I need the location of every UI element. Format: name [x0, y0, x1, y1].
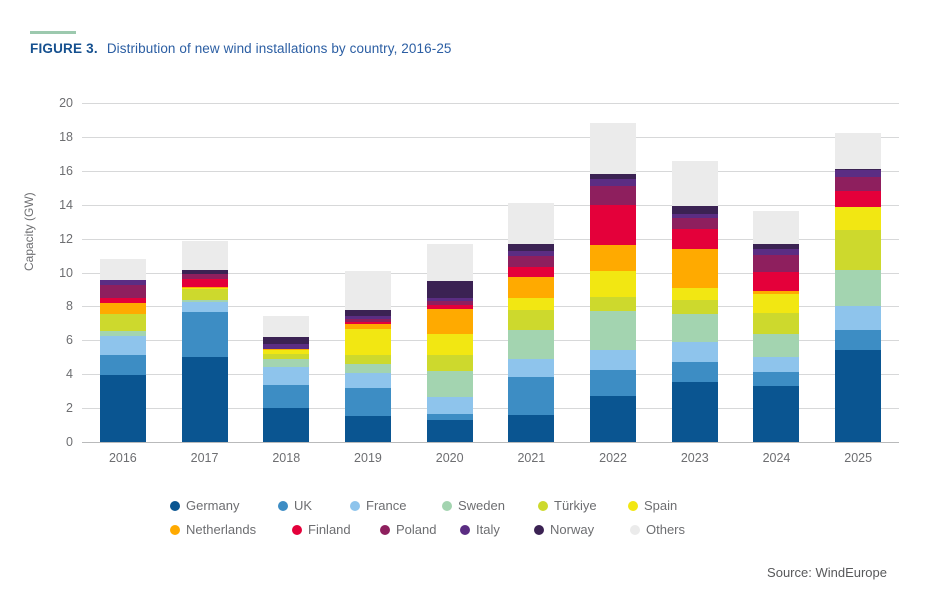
bar-segment-türkiye[interactable] [427, 355, 473, 371]
legend-item-spain[interactable]: Spain [628, 498, 677, 513]
x-axis-tick-label: 2017 [191, 451, 219, 465]
bar-segment-türkiye[interactable] [508, 310, 554, 330]
x-axis-tick-label: 2025 [844, 451, 872, 465]
bar-column[interactable]: 2020 [409, 103, 491, 442]
bar-segment-sweden[interactable] [835, 270, 881, 306]
stacked-bar[interactable] [508, 157, 554, 442]
bar-segment-finland[interactable] [508, 267, 554, 277]
legend-item-türkiye[interactable]: Türkiye [538, 498, 628, 513]
stacked-bar[interactable] [100, 193, 146, 442]
bar-segment-others[interactable] [345, 271, 391, 310]
legend-item-poland[interactable]: Poland [380, 522, 460, 537]
legend-item-others[interactable]: Others [630, 522, 685, 537]
bar-segment-france[interactable] [590, 350, 636, 370]
bar-segment-norway[interactable] [427, 281, 473, 298]
bar-segment-poland[interactable] [100, 285, 146, 297]
stacked-bar[interactable] [672, 134, 718, 442]
bar-segment-norway[interactable] [508, 244, 554, 251]
bar-segment-finland[interactable] [672, 229, 718, 249]
bar-column[interactable]: 2016 [82, 103, 164, 442]
bar-column[interactable]: 2021 [491, 103, 573, 442]
bar-column[interactable]: 2017 [164, 103, 246, 442]
bar-segment-germany[interactable] [100, 375, 146, 442]
legend-item-italy[interactable]: Italy [460, 522, 534, 537]
bar-segment-others[interactable] [427, 244, 473, 282]
legend-label: Sweden [458, 498, 505, 513]
y-axis-tick-label: 4 [66, 367, 73, 381]
stacked-bar[interactable] [753, 162, 799, 442]
stacked-bar[interactable] [345, 201, 391, 442]
legend-label: Italy [476, 522, 500, 537]
legend-row: NetherlandsFinlandPolandItalyNorwayOther… [170, 522, 770, 537]
bar-segment-netherlands[interactable] [672, 249, 718, 288]
bar-segment-france[interactable] [753, 357, 799, 372]
bar-segment-uk[interactable] [590, 370, 636, 396]
bar-segment-finland[interactable] [182, 279, 228, 287]
bar-segment-uk[interactable] [835, 330, 881, 349]
bar-segment-türkiye[interactable] [835, 230, 881, 270]
legend-item-finland[interactable]: Finland [292, 522, 380, 537]
legend-swatch-icon [278, 501, 288, 511]
legend-swatch-icon [380, 525, 390, 535]
legend-swatch-icon [350, 501, 360, 511]
bar-segment-sweden[interactable] [753, 334, 799, 356]
stacked-bar[interactable] [590, 113, 636, 442]
legend-swatch-icon [630, 525, 640, 535]
bar-segment-finland[interactable] [753, 272, 799, 292]
y-axis-tick-label: 14 [59, 198, 73, 212]
legend-item-netherlands[interactable]: Netherlands [170, 522, 292, 537]
bar-segment-sweden[interactable] [345, 364, 391, 374]
bar-segment-türkiye[interactable] [590, 297, 636, 310]
bar-segment-germany[interactable] [590, 396, 636, 442]
legend-item-norway[interactable]: Norway [534, 522, 630, 537]
legend-swatch-icon [170, 525, 180, 535]
stacked-bar[interactable] [835, 118, 881, 442]
x-axis-tick-label: 2016 [109, 451, 137, 465]
bar-segment-germany[interactable] [835, 350, 881, 442]
bar-segment-sweden[interactable] [427, 371, 473, 397]
bar-column[interactable]: 2025 [817, 103, 899, 442]
bar-segment-sweden[interactable] [672, 314, 718, 342]
legend-label: France [366, 498, 406, 513]
y-axis-tick-label: 18 [59, 130, 73, 144]
bar-segment-france[interactable] [427, 397, 473, 414]
bar-segment-germany[interactable] [182, 357, 228, 442]
bar-segment-others[interactable] [100, 259, 146, 280]
bar-segment-germany[interactable] [263, 408, 309, 442]
bar-segment-poland[interactable] [590, 186, 636, 206]
bar-segment-türkiye[interactable] [182, 289, 228, 299]
legend-item-france[interactable]: France [350, 498, 442, 513]
bar-segment-türkiye[interactable] [345, 355, 391, 363]
source-note: Source: WindEurope [767, 565, 887, 580]
legend-label: Türkiye [554, 498, 597, 513]
bar-segment-germany[interactable] [753, 386, 799, 442]
bar-column[interactable]: 2018 [245, 103, 327, 442]
x-axis-tick-label: 2024 [763, 451, 791, 465]
legend-item-sweden[interactable]: Sweden [442, 498, 538, 513]
stacked-bar[interactable] [427, 183, 473, 442]
stacked-bar[interactable] [182, 181, 228, 442]
bar-segment-others[interactable] [182, 241, 228, 270]
bar-segment-netherlands[interactable] [590, 245, 636, 271]
legend-label: UK [294, 498, 312, 513]
bar-segment-uk[interactable] [508, 377, 554, 415]
bar-series-container: 2016201720182019202020212022202320242025 [82, 103, 899, 442]
bar-segment-uk[interactable] [100, 355, 146, 375]
bar-segment-france[interactable] [263, 367, 309, 386]
legend-label: Poland [396, 522, 436, 537]
legend-swatch-icon [534, 525, 544, 535]
bar-segment-germany[interactable] [508, 415, 554, 442]
bar-segment-others[interactable] [753, 211, 799, 243]
legend-swatch-icon [442, 501, 452, 511]
bar-segment-others[interactable] [835, 133, 881, 169]
chart-legend: GermanyUKFranceSwedenTürkiyeSpainNetherl… [170, 498, 770, 546]
figure-title: Distribution of new wind installations b… [107, 41, 452, 56]
legend-item-uk[interactable]: UK [278, 498, 350, 513]
legend-label: Finland [308, 522, 351, 537]
y-axis-tick-label: 2 [66, 401, 73, 415]
bar-segment-poland[interactable] [508, 256, 554, 267]
bar-segment-türkiye[interactable] [672, 300, 718, 314]
x-axis-tick-label: 2019 [354, 451, 382, 465]
bar-segment-others[interactable] [590, 123, 636, 174]
legend-label: Netherlands [186, 522, 256, 537]
bar-segment-uk[interactable] [672, 362, 718, 382]
bar-segment-others[interactable] [508, 203, 554, 244]
bar-column[interactable]: 2023 [654, 103, 736, 442]
chart-area: Capacity (GW) 02468101214161820 20162017… [30, 95, 905, 470]
bar-segment-spain[interactable] [590, 271, 636, 297]
x-axis-tick-label: 2022 [599, 451, 627, 465]
bar-segment-netherlands[interactable] [427, 309, 473, 335]
bar-segment-spain[interactable] [345, 329, 391, 355]
bar-column[interactable]: 2024 [736, 103, 818, 442]
stacked-bar[interactable] [263, 235, 309, 442]
legend-row: GermanyUKFranceSwedenTürkiyeSpain [170, 498, 770, 513]
bar-segment-sweden[interactable] [590, 311, 636, 350]
bar-segment-spain[interactable] [508, 298, 554, 309]
y-axis-tick-label: 16 [59, 164, 73, 178]
bar-segment-spain[interactable] [753, 294, 799, 314]
bar-segment-uk[interactable] [753, 372, 799, 386]
legend-label: Germany [186, 498, 239, 513]
bar-segment-sweden[interactable] [508, 330, 554, 360]
bar-segment-uk[interactable] [182, 312, 228, 358]
bar-segment-sweden[interactable] [263, 359, 309, 366]
bar-segment-spain[interactable] [427, 334, 473, 355]
bar-segment-spain[interactable] [672, 288, 718, 300]
legend-swatch-icon [292, 525, 302, 535]
bar-segment-poland[interactable] [753, 255, 799, 272]
bar-column[interactable]: 2022 [572, 103, 654, 442]
bar-segment-france[interactable] [835, 306, 881, 330]
bar-column[interactable]: 2019 [327, 103, 409, 442]
bar-segment-france[interactable] [100, 336, 146, 355]
x-axis-tick-label: 2023 [681, 451, 709, 465]
bar-segment-norway[interactable] [672, 206, 718, 214]
bar-segment-others[interactable] [672, 161, 718, 206]
bar-segment-germany[interactable] [427, 420, 473, 442]
bar-segment-netherlands[interactable] [508, 277, 554, 298]
bar-segment-poland[interactable] [835, 177, 881, 192]
legend-item-germany[interactable]: Germany [170, 498, 278, 513]
bar-segment-türkiye[interactable] [753, 313, 799, 334]
bar-segment-france[interactable] [508, 359, 554, 376]
bar-segment-france[interactable] [182, 302, 228, 311]
legend-label: Others [646, 522, 685, 537]
legend-label: Norway [550, 522, 594, 537]
legend-label: Spain [644, 498, 677, 513]
legend-swatch-icon [460, 525, 470, 535]
x-axis-tick-label: 2018 [272, 451, 300, 465]
bar-segment-türkiye[interactable] [100, 314, 146, 331]
x-axis-tick-label: 2021 [517, 451, 545, 465]
x-axis-tick-label: 2020 [436, 451, 464, 465]
legend-swatch-icon [170, 501, 180, 511]
legend-swatch-icon [538, 501, 548, 511]
bar-segment-uk[interactable] [345, 388, 391, 416]
y-axis-tick-label: 6 [66, 333, 73, 347]
accent-rule [30, 31, 76, 34]
bar-segment-germany[interactable] [672, 382, 718, 442]
y-axis-tick-label: 12 [59, 232, 73, 246]
y-axis-tick-label: 0 [66, 435, 73, 449]
bar-segment-france[interactable] [345, 373, 391, 387]
bar-segment-finland[interactable] [590, 205, 636, 244]
y-axis-title: Capacity (GW) [22, 192, 36, 271]
legend-swatch-icon [628, 501, 638, 511]
bar-segment-poland[interactable] [672, 218, 718, 229]
bar-segment-netherlands[interactable] [100, 303, 146, 314]
plot-area: 02468101214161820 2016201720182019202020… [82, 103, 899, 442]
bar-segment-finland[interactable] [835, 191, 881, 207]
figure-header: FIGURE 3. Distribution of new wind insta… [30, 41, 452, 56]
bar-segment-others[interactable] [263, 316, 309, 337]
bar-segment-spain[interactable] [835, 207, 881, 230]
bar-segment-uk[interactable] [263, 385, 309, 408]
figure-page: FIGURE 3. Distribution of new wind insta… [0, 0, 935, 612]
y-axis-tick-label: 10 [59, 266, 73, 280]
y-axis-tick-label: 20 [59, 96, 73, 110]
figure-label: FIGURE 3. [30, 41, 98, 56]
bar-segment-france[interactable] [672, 342, 718, 362]
bar-segment-germany[interactable] [345, 416, 391, 442]
gridline [82, 442, 899, 443]
y-axis-tick-label: 8 [66, 299, 73, 313]
bar-segment-norway[interactable] [263, 337, 309, 344]
